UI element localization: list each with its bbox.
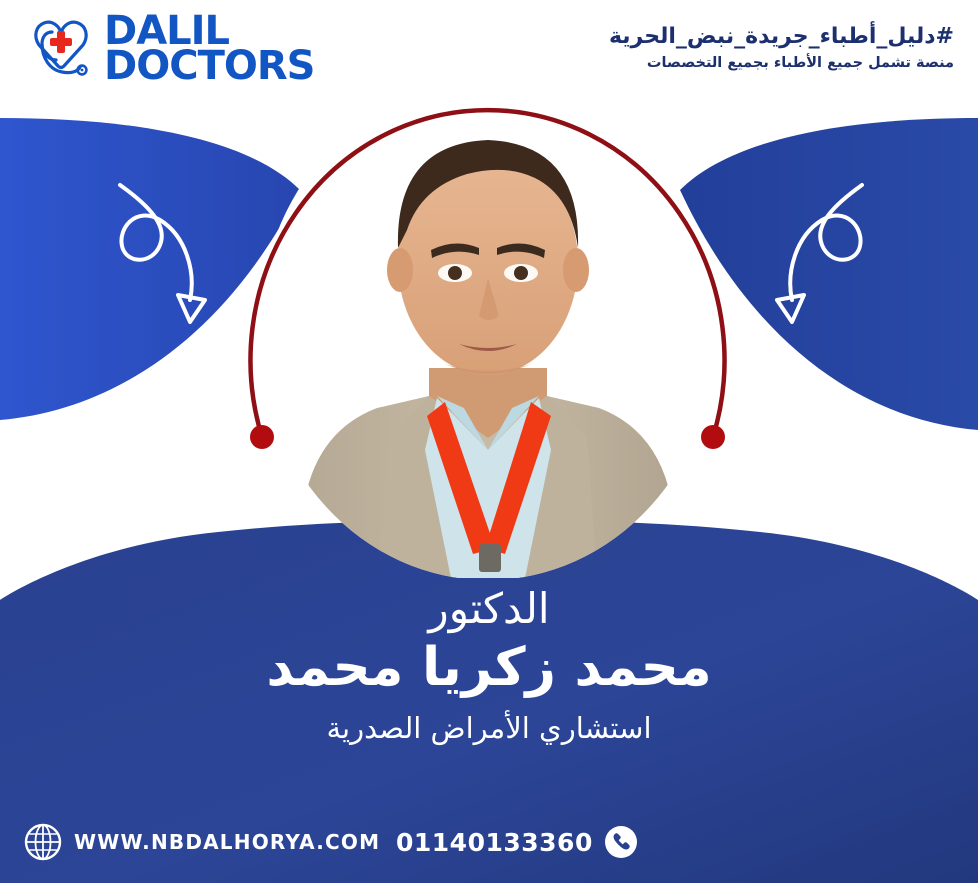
doctor-info-block: الدكتور محمد زكريا محمد استشاري الأمراض … [0,586,978,746]
brand-name-line2: DOCTORS [104,49,314,84]
right-blue-band [680,118,978,430]
doctor-portrait-image [259,78,717,578]
left-blue-band [0,118,300,420]
globe-icon [24,823,62,861]
avatar [259,78,717,578]
phone-number: 01140133360 [396,828,593,857]
brand-logo[interactable]: DALIL DOCTORS [28,14,314,84]
doctor-profile-poster: DALIL DOCTORS #دليل_أطباء_جريدة_نبض_الحر… [0,0,978,883]
phone-icon [604,825,638,859]
doctor-name: محمد زكريا محمد [0,638,978,699]
header-arabic-text: #دليل_أطباء_جريدة_نبض_الحرية منصة تشمل ج… [609,24,954,71]
doctor-specialty: استشاري الأمراض الصدرية [0,711,978,746]
website-link[interactable]: WWW.NBDALHORYA.COM [24,823,380,861]
heart-stethoscope-cross-icon [28,14,94,84]
phone-contact[interactable]: 01140133360 [396,825,638,859]
platform-tagline: منصة تشمل جميع الأطباء بجميع التخصصات [609,55,954,71]
campaign-hashtag: #دليل_أطباء_جريدة_نبض_الحرية [609,24,954,49]
website-url: WWW.NBDALHORYA.COM [74,830,380,854]
poster-footer: WWW.NBDALHORYA.COM 01140133360 أشـتـرك ا… [0,805,978,883]
poster-header: DALIL DOCTORS #دليل_أطباء_جريدة_نبض_الحر… [0,0,978,118]
doctor-title: الدكتور [0,586,978,632]
